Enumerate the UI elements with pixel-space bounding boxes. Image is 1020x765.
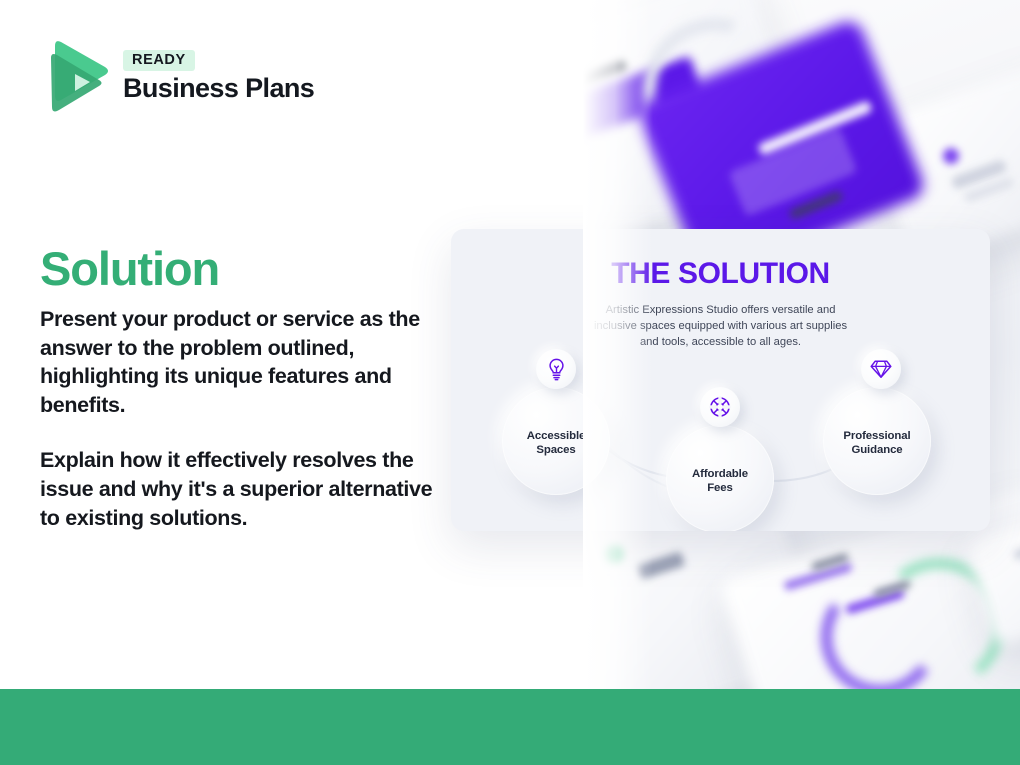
- node-professional-guidance[interactable]: Professional Guidance: [823, 387, 931, 495]
- node-affordable-fees[interactable]: Affordable Fees: [666, 425, 774, 531]
- ready-badge: READY: [123, 50, 195, 72]
- page-title: Solution: [40, 245, 219, 292]
- node-label-line-2: Spaces: [536, 444, 575, 456]
- node-label-line-1: Professional: [843, 430, 910, 442]
- node-label-line-1: Accessible: [527, 430, 586, 442]
- node-label: Affordable Fees: [692, 462, 748, 496]
- paragraph-one: Present your product or service as the a…: [40, 305, 436, 419]
- blurred-dot-purple: [943, 148, 959, 164]
- lightbulb-icon: [547, 358, 566, 381]
- node-badge-accessible-spaces: [536, 349, 576, 389]
- node-label: Professional Guidance: [843, 424, 910, 458]
- node-label-line-1: Affordable: [692, 468, 748, 480]
- node-badge-affordable-fees: [700, 387, 740, 427]
- lifebuoy-icon: [709, 396, 731, 418]
- body-copy: Present your product or service as the a…: [40, 305, 436, 532]
- slide-canvas: READY Business Plans Solution Present yo…: [0, 0, 1020, 765]
- play-triangle-logo-icon: [41, 36, 111, 118]
- brand-logo: READY Business Plans: [41, 36, 314, 118]
- solution-preview-card: THE SOLUTION Artistic Expressions Studio…: [451, 229, 990, 531]
- blurred-dot-green: [605, 545, 623, 563]
- paragraph-two: Explain how it effectively resolves the …: [40, 446, 436, 532]
- blurred-text-line: [583, 59, 627, 88]
- node-label-line-2: Guidance: [851, 444, 902, 456]
- node-badge-professional-guidance: [861, 349, 901, 389]
- node-label-line-2: Fees: [707, 482, 733, 494]
- brand-name: Business Plans: [123, 73, 314, 104]
- footer-bar: [0, 689, 1020, 765]
- diamond-icon: [870, 359, 892, 379]
- node-label: Accessible Spaces: [527, 424, 586, 458]
